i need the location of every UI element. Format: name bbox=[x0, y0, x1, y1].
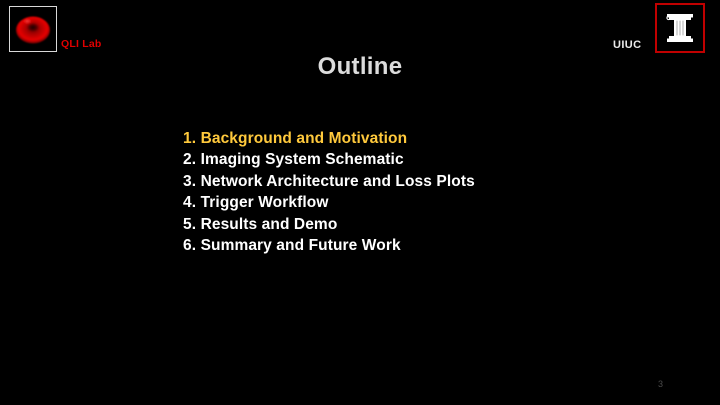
outline-item-label: Network Architecture and Loss Plots bbox=[201, 173, 475, 190]
outline-item-label: Trigger Workflow bbox=[201, 194, 329, 211]
presentation-slide: QLI Lab Outline UIUC bbox=[0, 0, 720, 405]
institution-label: UIUC bbox=[613, 39, 642, 51]
page-number: 3 bbox=[658, 379, 663, 389]
outline-item-number: 1. bbox=[183, 130, 196, 147]
outline-item-number: 5. bbox=[183, 216, 196, 233]
institution-logo-box bbox=[655, 3, 705, 53]
outline-item-label: Background and Motivation bbox=[201, 130, 408, 147]
outline-item-number: 4. bbox=[183, 194, 196, 211]
outline-item-number: 2. bbox=[183, 151, 196, 168]
lab-logo-box bbox=[9, 6, 57, 52]
outline-item[interactable]: 2. Imaging System Schematic bbox=[183, 149, 475, 170]
outline-list: 1. Background and Motivation2. Imaging S… bbox=[183, 128, 475, 256]
outline-item-number: 6. bbox=[183, 237, 196, 254]
outline-item[interactable]: 1. Background and Motivation bbox=[183, 128, 475, 149]
uiuc-block-i-icon bbox=[663, 8, 697, 48]
outline-item[interactable]: 6. Summary and Future Work bbox=[183, 235, 475, 256]
outline-item[interactable]: 5. Results and Demo bbox=[183, 214, 475, 235]
red-blood-cell-icon bbox=[14, 13, 52, 45]
outline-item-number: 3. bbox=[183, 173, 196, 190]
lab-name-label: QLI Lab bbox=[61, 38, 101, 50]
outline-item-label: Imaging System Schematic bbox=[201, 151, 404, 168]
outline-item[interactable]: 3. Network Architecture and Loss Plots bbox=[183, 171, 475, 192]
outline-item-label: Results and Demo bbox=[201, 216, 338, 233]
outline-item-label: Summary and Future Work bbox=[201, 237, 401, 254]
page-title: Outline bbox=[0, 53, 720, 81]
outline-item[interactable]: 4. Trigger Workflow bbox=[183, 192, 475, 213]
